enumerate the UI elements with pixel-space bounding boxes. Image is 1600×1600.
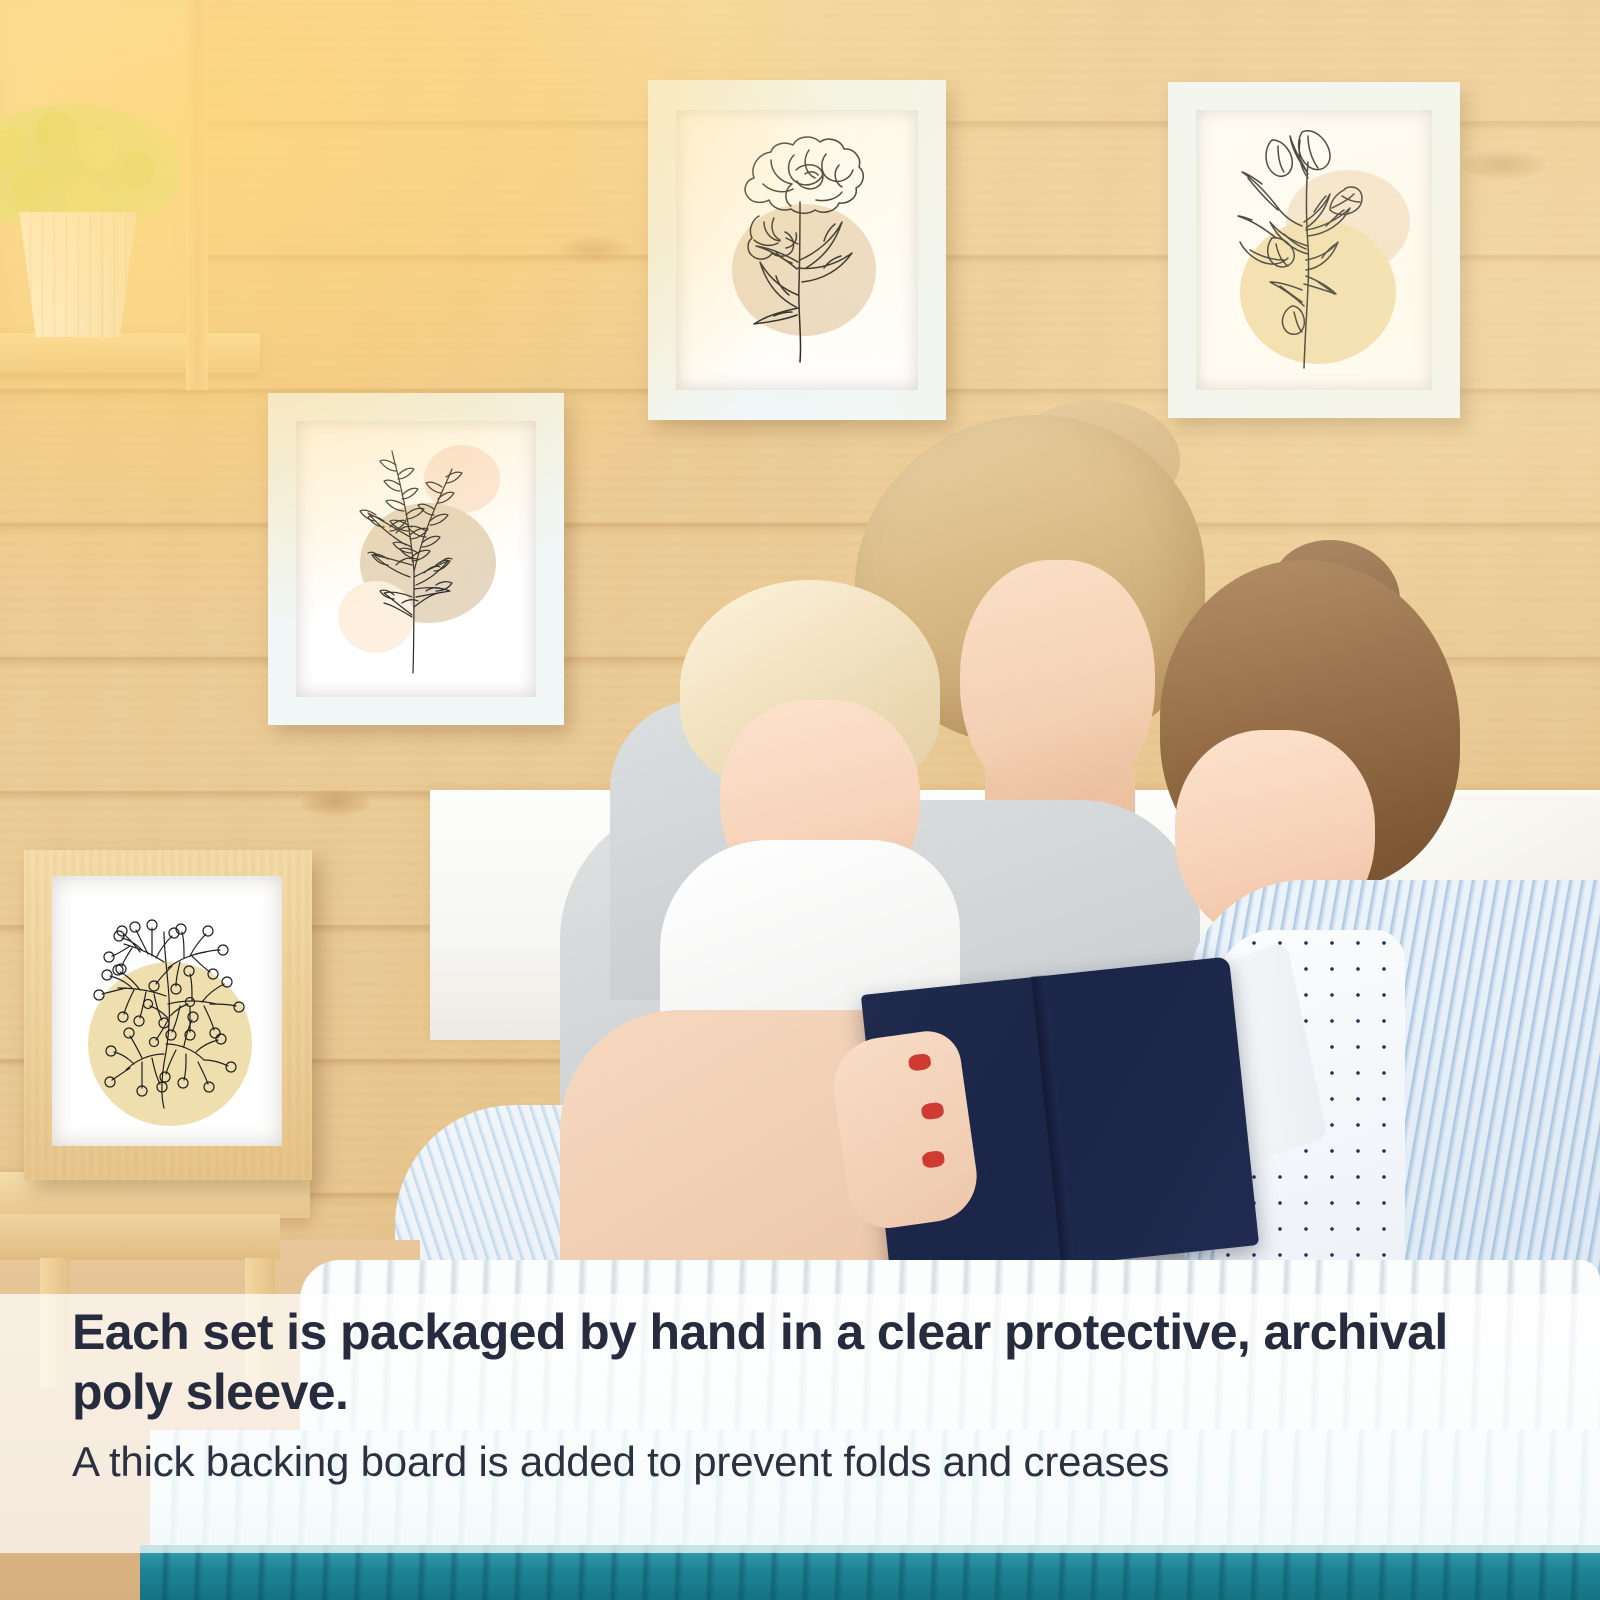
fingernail xyxy=(921,1102,945,1121)
shelf-post xyxy=(186,0,208,390)
art-mat xyxy=(1196,110,1432,390)
fingernail xyxy=(921,1150,945,1169)
framed-art-branch[interactable] xyxy=(1168,82,1460,418)
wood-knot xyxy=(560,236,630,264)
wood-knot xyxy=(300,790,370,816)
art-mat xyxy=(296,421,536,697)
overlay-headline: Each set is packaged by hand in a clear … xyxy=(72,1302,1492,1422)
nightstand-apron xyxy=(0,1214,280,1260)
framed-art-peony[interactable] xyxy=(648,80,946,420)
wild-grass-line-art xyxy=(296,421,536,697)
plant-foliage xyxy=(0,105,180,230)
art-mat xyxy=(676,110,918,390)
overlay-subline: A thick backing board is added to preven… xyxy=(72,1437,1522,1487)
product-lifestyle-image: Each set is packaged by hand in a clear … xyxy=(0,0,1600,1600)
shelf-board xyxy=(0,333,260,373)
babys-breath-line-art xyxy=(52,876,282,1146)
botanical-branch-line-art xyxy=(1196,110,1432,390)
art-mat xyxy=(52,876,282,1146)
framed-art-babys-breath[interactable] xyxy=(24,850,312,1180)
framed-art-grass[interactable] xyxy=(268,393,564,725)
fingernail xyxy=(908,1053,932,1072)
teal-corduroy-blanket xyxy=(140,1545,1600,1600)
peony-line-art xyxy=(676,110,918,390)
mother-hand xyxy=(827,1027,982,1233)
mother-face xyxy=(960,560,1155,810)
wood-knot xyxy=(1460,150,1545,180)
